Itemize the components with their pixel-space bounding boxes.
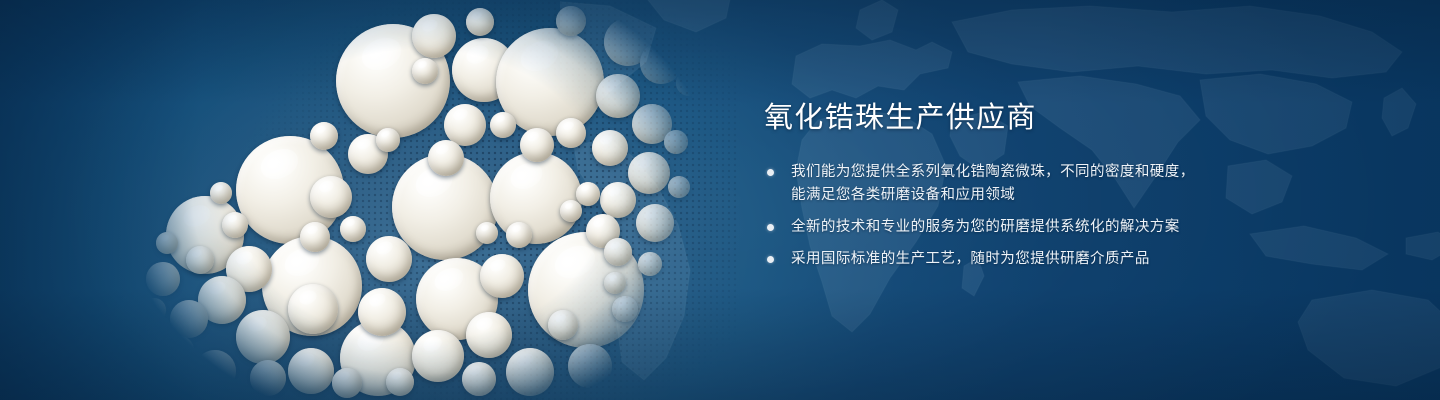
list-item: 采用国际标准的生产工艺，随时为您提供研磨介质产品 <box>764 248 1404 271</box>
page-title: 氧化锆珠生产供应商 <box>764 104 1404 133</box>
bullet-line: 全新的技术和专业的服务为您的研磨提供系统化的解决方案 <box>791 216 1404 239</box>
list-item: 全新的技术和专业的服务为您的研磨提供系统化的解决方案 <box>764 216 1404 239</box>
list-item: 我们能为您提供全系列氧化锆陶瓷微珠，不同的密度和硬度， 能满足您各类研磨设备和应… <box>764 161 1404 207</box>
feature-bullet-list: 我们能为您提供全系列氧化锆陶瓷微珠，不同的密度和硬度， 能满足您各类研磨设备和应… <box>764 161 1404 271</box>
bullet-dot-icon <box>767 224 774 231</box>
bullet-dot-icon <box>767 256 774 263</box>
hero-banner: 氧化锆珠生产供应商 我们能为您提供全系列氧化锆陶瓷微珠，不同的密度和硬度， 能满… <box>0 0 1440 400</box>
bullet-line: 我们能为您提供全系列氧化锆陶瓷微珠，不同的密度和硬度， <box>791 161 1404 184</box>
bullet-dot-icon <box>767 169 774 176</box>
bullet-line: 采用国际标准的生产工艺，随时为您提供研磨介质产品 <box>791 248 1404 271</box>
banner-copy: 氧化锆珠生产供应商 我们能为您提供全系列氧化锆陶瓷微珠，不同的密度和硬度， 能满… <box>764 104 1404 271</box>
zirconia-beads-photo <box>0 0 760 400</box>
bullet-line: 能满足您各类研磨设备和应用领域 <box>791 184 1404 207</box>
